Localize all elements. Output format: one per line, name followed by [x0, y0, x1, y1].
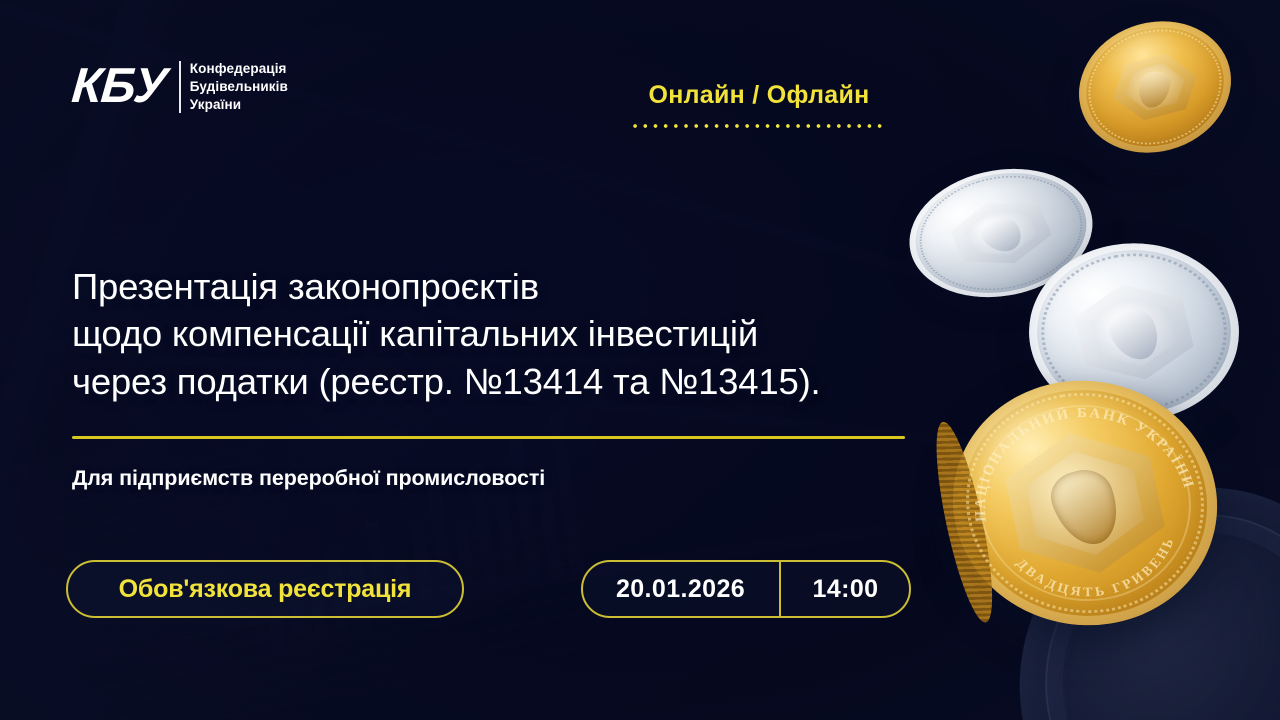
event-format-label: Онлайн / Офлайн	[630, 82, 888, 110]
headline-line-3: через податки (реєстр. №13414 та №13415)…	[72, 358, 952, 405]
registration-badge-label: Обов'язкова реєстрація	[119, 575, 412, 604]
page-subtitle: Для підприємств переробної промисловості	[72, 466, 545, 491]
brand-name-line-3: України	[190, 96, 288, 114]
yellow-divider-rule	[72, 436, 905, 439]
registration-badge[interactable]: Обов'язкова реєстрація	[66, 560, 464, 618]
brand-logo-mark: КБУ	[70, 62, 168, 111]
event-time: 14:00	[781, 562, 910, 616]
event-format-block: Онлайн / Офлайн	[630, 82, 888, 129]
brand-name-line-1: Конфедерація	[190, 60, 288, 78]
brand-logo: КБУ Конфедерація Будівельників України	[72, 60, 288, 113]
event-banner: КБУ Конфедерація Будівельників України О…	[0, 0, 1280, 720]
dotted-divider	[630, 123, 888, 129]
page-title: Презентація законопроєктів щодо компенса…	[72, 263, 952, 405]
headline-line-2: щодо компенсації капітальних інвестицій	[72, 310, 952, 357]
datetime-badge: 20.01.2026 14:00	[581, 560, 911, 618]
brand-name-line-2: Будівельників	[190, 78, 288, 96]
event-date: 20.01.2026	[582, 562, 779, 616]
headline-line-1: Презентація законопроєктів	[72, 263, 952, 310]
brand-logo-divider	[179, 61, 181, 113]
brand-logo-name: Конфедерація Будівельників України	[190, 60, 288, 113]
